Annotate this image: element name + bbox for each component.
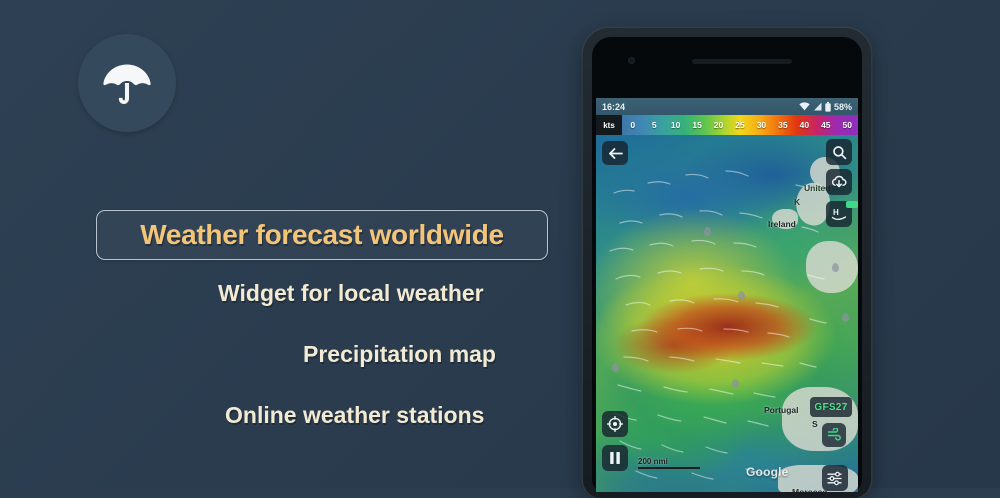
legend-tick: 35 xyxy=(772,115,793,135)
earpiece-speaker xyxy=(692,59,792,64)
locate-me-button[interactable] xyxy=(602,411,628,437)
phone-mockup: 16:24 58% kts 0 xyxy=(583,28,871,498)
wifi-icon xyxy=(799,102,810,111)
station-pin[interactable] xyxy=(832,263,839,272)
front-camera-icon xyxy=(628,57,635,64)
download-forecast-button[interactable] xyxy=(826,169,852,195)
feature-line-2: Precipitation map xyxy=(303,341,496,368)
isobar-new-badge xyxy=(846,201,858,208)
legend-tick: 45 xyxy=(815,115,836,135)
map-label-portugal: Portugal xyxy=(764,405,798,415)
station-pin[interactable] xyxy=(738,291,745,300)
map-label-ireland: Ireland xyxy=(768,219,796,229)
legend-tick: 10 xyxy=(665,115,686,135)
station-pin[interactable] xyxy=(612,363,619,372)
legend-tick: 0 xyxy=(622,115,643,135)
feature-line-1: Widget for local weather xyxy=(218,280,484,307)
search-icon xyxy=(832,145,847,160)
legend-tick: 5 xyxy=(643,115,664,135)
map-scale-label: 200 nmi xyxy=(638,457,700,466)
pause-animation-button[interactable] xyxy=(602,445,628,471)
legend-tick: 50 xyxy=(837,115,858,135)
app-screen: 16:24 58% kts 0 xyxy=(596,98,858,492)
page-title: Weather forecast worldwide xyxy=(140,219,504,251)
legend-tick: 30 xyxy=(751,115,772,135)
search-button[interactable] xyxy=(826,139,852,165)
isobar-high-icon: H xyxy=(830,206,848,222)
google-attribution: Google xyxy=(746,465,789,479)
back-button[interactable] xyxy=(602,141,628,165)
promo-banner: Weather forecast worldwide Widget for lo… xyxy=(0,0,1000,488)
back-arrow-icon xyxy=(608,147,623,160)
battery-icon xyxy=(825,102,831,112)
wind-layer-icon xyxy=(827,428,842,442)
legend-tick: 25 xyxy=(729,115,750,135)
locate-crosshair-icon xyxy=(607,416,623,432)
umbrella-icon xyxy=(100,56,154,110)
weather-map[interactable]: Ireland United K Portugal Madrid S Moroc… xyxy=(596,135,858,492)
status-bar: 16:24 58% xyxy=(596,98,858,115)
model-badge[interactable]: GFS27 xyxy=(810,397,852,417)
station-pin[interactable] xyxy=(842,313,849,322)
legend-tick: 20 xyxy=(708,115,729,135)
svg-text:H: H xyxy=(833,208,839,217)
station-pin[interactable] xyxy=(704,227,711,236)
map-scale-bar: 200 nmi xyxy=(638,457,700,469)
download-cloud-icon xyxy=(831,175,847,189)
settings-sliders-icon xyxy=(827,471,843,486)
pause-icon xyxy=(609,451,621,465)
legend-tick: 40 xyxy=(794,115,815,135)
feature-line-3: Online weather stations xyxy=(225,402,484,429)
map-scale-line xyxy=(638,467,700,469)
map-label-kingdom-abbrev: K xyxy=(794,197,800,207)
battery-percent: 58% xyxy=(834,102,852,112)
wind-layer-button[interactable] xyxy=(822,423,846,447)
legend-scale: 0 5 10 15 20 25 30 35 40 45 50 xyxy=(622,115,858,135)
map-label-spain-abbrev: S xyxy=(812,419,818,429)
signal-icon xyxy=(813,102,822,111)
station-pin[interactable] xyxy=(732,379,739,388)
wind-speed-legend: kts 0 5 10 15 20 25 30 35 40 45 50 xyxy=(596,115,858,135)
legend-unit: kts xyxy=(596,115,622,135)
legend-tick: 15 xyxy=(686,115,707,135)
settings-button[interactable] xyxy=(822,465,848,491)
brand-badge xyxy=(78,34,176,132)
headline-box: Weather forecast worldwide xyxy=(96,210,548,260)
status-time: 16:24 xyxy=(602,102,625,112)
